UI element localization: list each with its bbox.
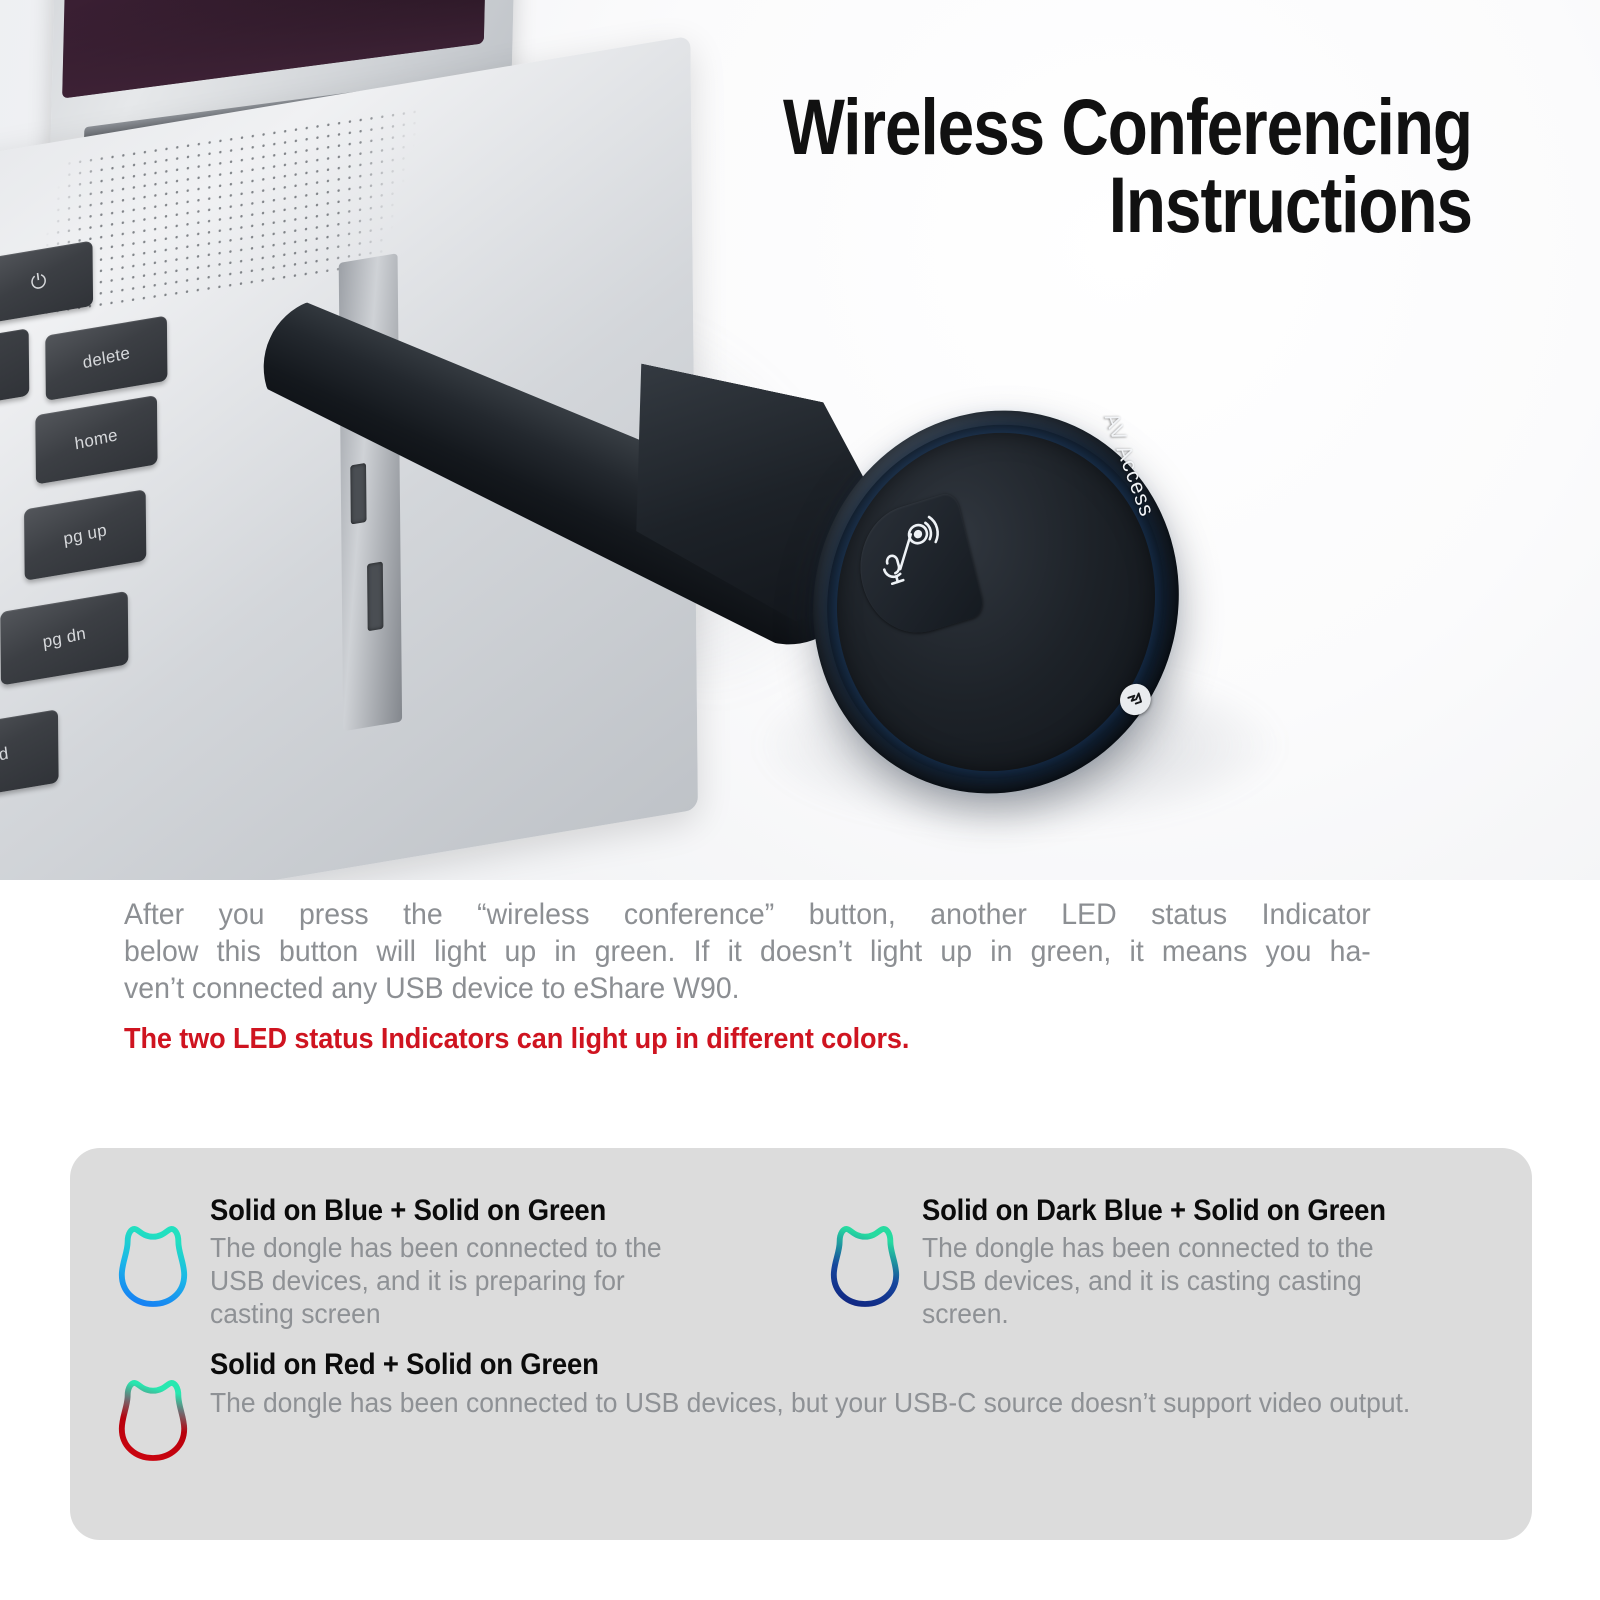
hero-product-photo: 15:43 2023/9/20 中 prt scr ⏻ ← backspace … bbox=[0, 0, 1600, 880]
title-line-1: Wireless Conferencing bbox=[783, 82, 1472, 171]
legend-desc: The dongle has been connected to USB dev… bbox=[210, 1387, 1429, 1420]
legend-title: Solid on Blue + Solid on Green bbox=[210, 1194, 675, 1228]
led-legend-card: Solid on Blue + Solid on Green The dongl… bbox=[70, 1148, 1532, 1540]
title-line-2: Instructions bbox=[758, 166, 1472, 244]
legend-grid: Solid on Blue + Solid on Green The dongl… bbox=[114, 1194, 1502, 1469]
led-ring-red-green-icon bbox=[114, 1374, 192, 1469]
intro-paragraph: After you press the “wireless conference… bbox=[124, 896, 1371, 1007]
poster-page: 15:43 2023/9/20 中 prt scr ⏻ ← backspace … bbox=[0, 0, 1600, 1600]
paragraph-line-3: ven’t connected any USB device to eShare… bbox=[124, 970, 1371, 1007]
legend-title: Solid on Red + Solid on Green bbox=[210, 1348, 1412, 1382]
legend-text-blue-green: Solid on Blue + Solid on Green The dongl… bbox=[210, 1194, 710, 1330]
legend-item-red-green: Solid on Red + Solid on Green The dongle… bbox=[114, 1348, 1502, 1469]
legend-item-darkblue-green: Solid on Dark Blue + Solid on Green The … bbox=[826, 1194, 1502, 1330]
page-title: Wireless Conferencing Instructions bbox=[758, 88, 1472, 244]
legend-item-blue-green: Solid on Blue + Solid on Green The dongl… bbox=[114, 1194, 782, 1330]
led-ring-darkblue-green-icon bbox=[826, 1220, 904, 1315]
legend-text-red-green: Solid on Red + Solid on Green The dongle… bbox=[210, 1348, 1502, 1419]
highlight-note: The two LED status Indicators can light … bbox=[124, 1023, 1351, 1056]
legend-title: Solid on Dark Blue + Solid on Green bbox=[922, 1194, 1415, 1228]
body-copy: After you press the “wireless conference… bbox=[124, 896, 1416, 1056]
paragraph-line-1: After you press the “wireless conference… bbox=[124, 896, 1371, 933]
paragraph-line-2: below this button will light up in green… bbox=[124, 933, 1371, 970]
legend-desc: The dongle has been connected to the USB… bbox=[922, 1232, 1423, 1330]
legend-desc: The dongle has been connected to the USB… bbox=[210, 1232, 683, 1330]
dongle-puck: AV Access bbox=[789, 379, 1204, 826]
led-ring-blue-green-icon bbox=[114, 1220, 192, 1315]
legend-text-darkblue-green: Solid on Dark Blue + Solid on Green The … bbox=[922, 1194, 1452, 1330]
